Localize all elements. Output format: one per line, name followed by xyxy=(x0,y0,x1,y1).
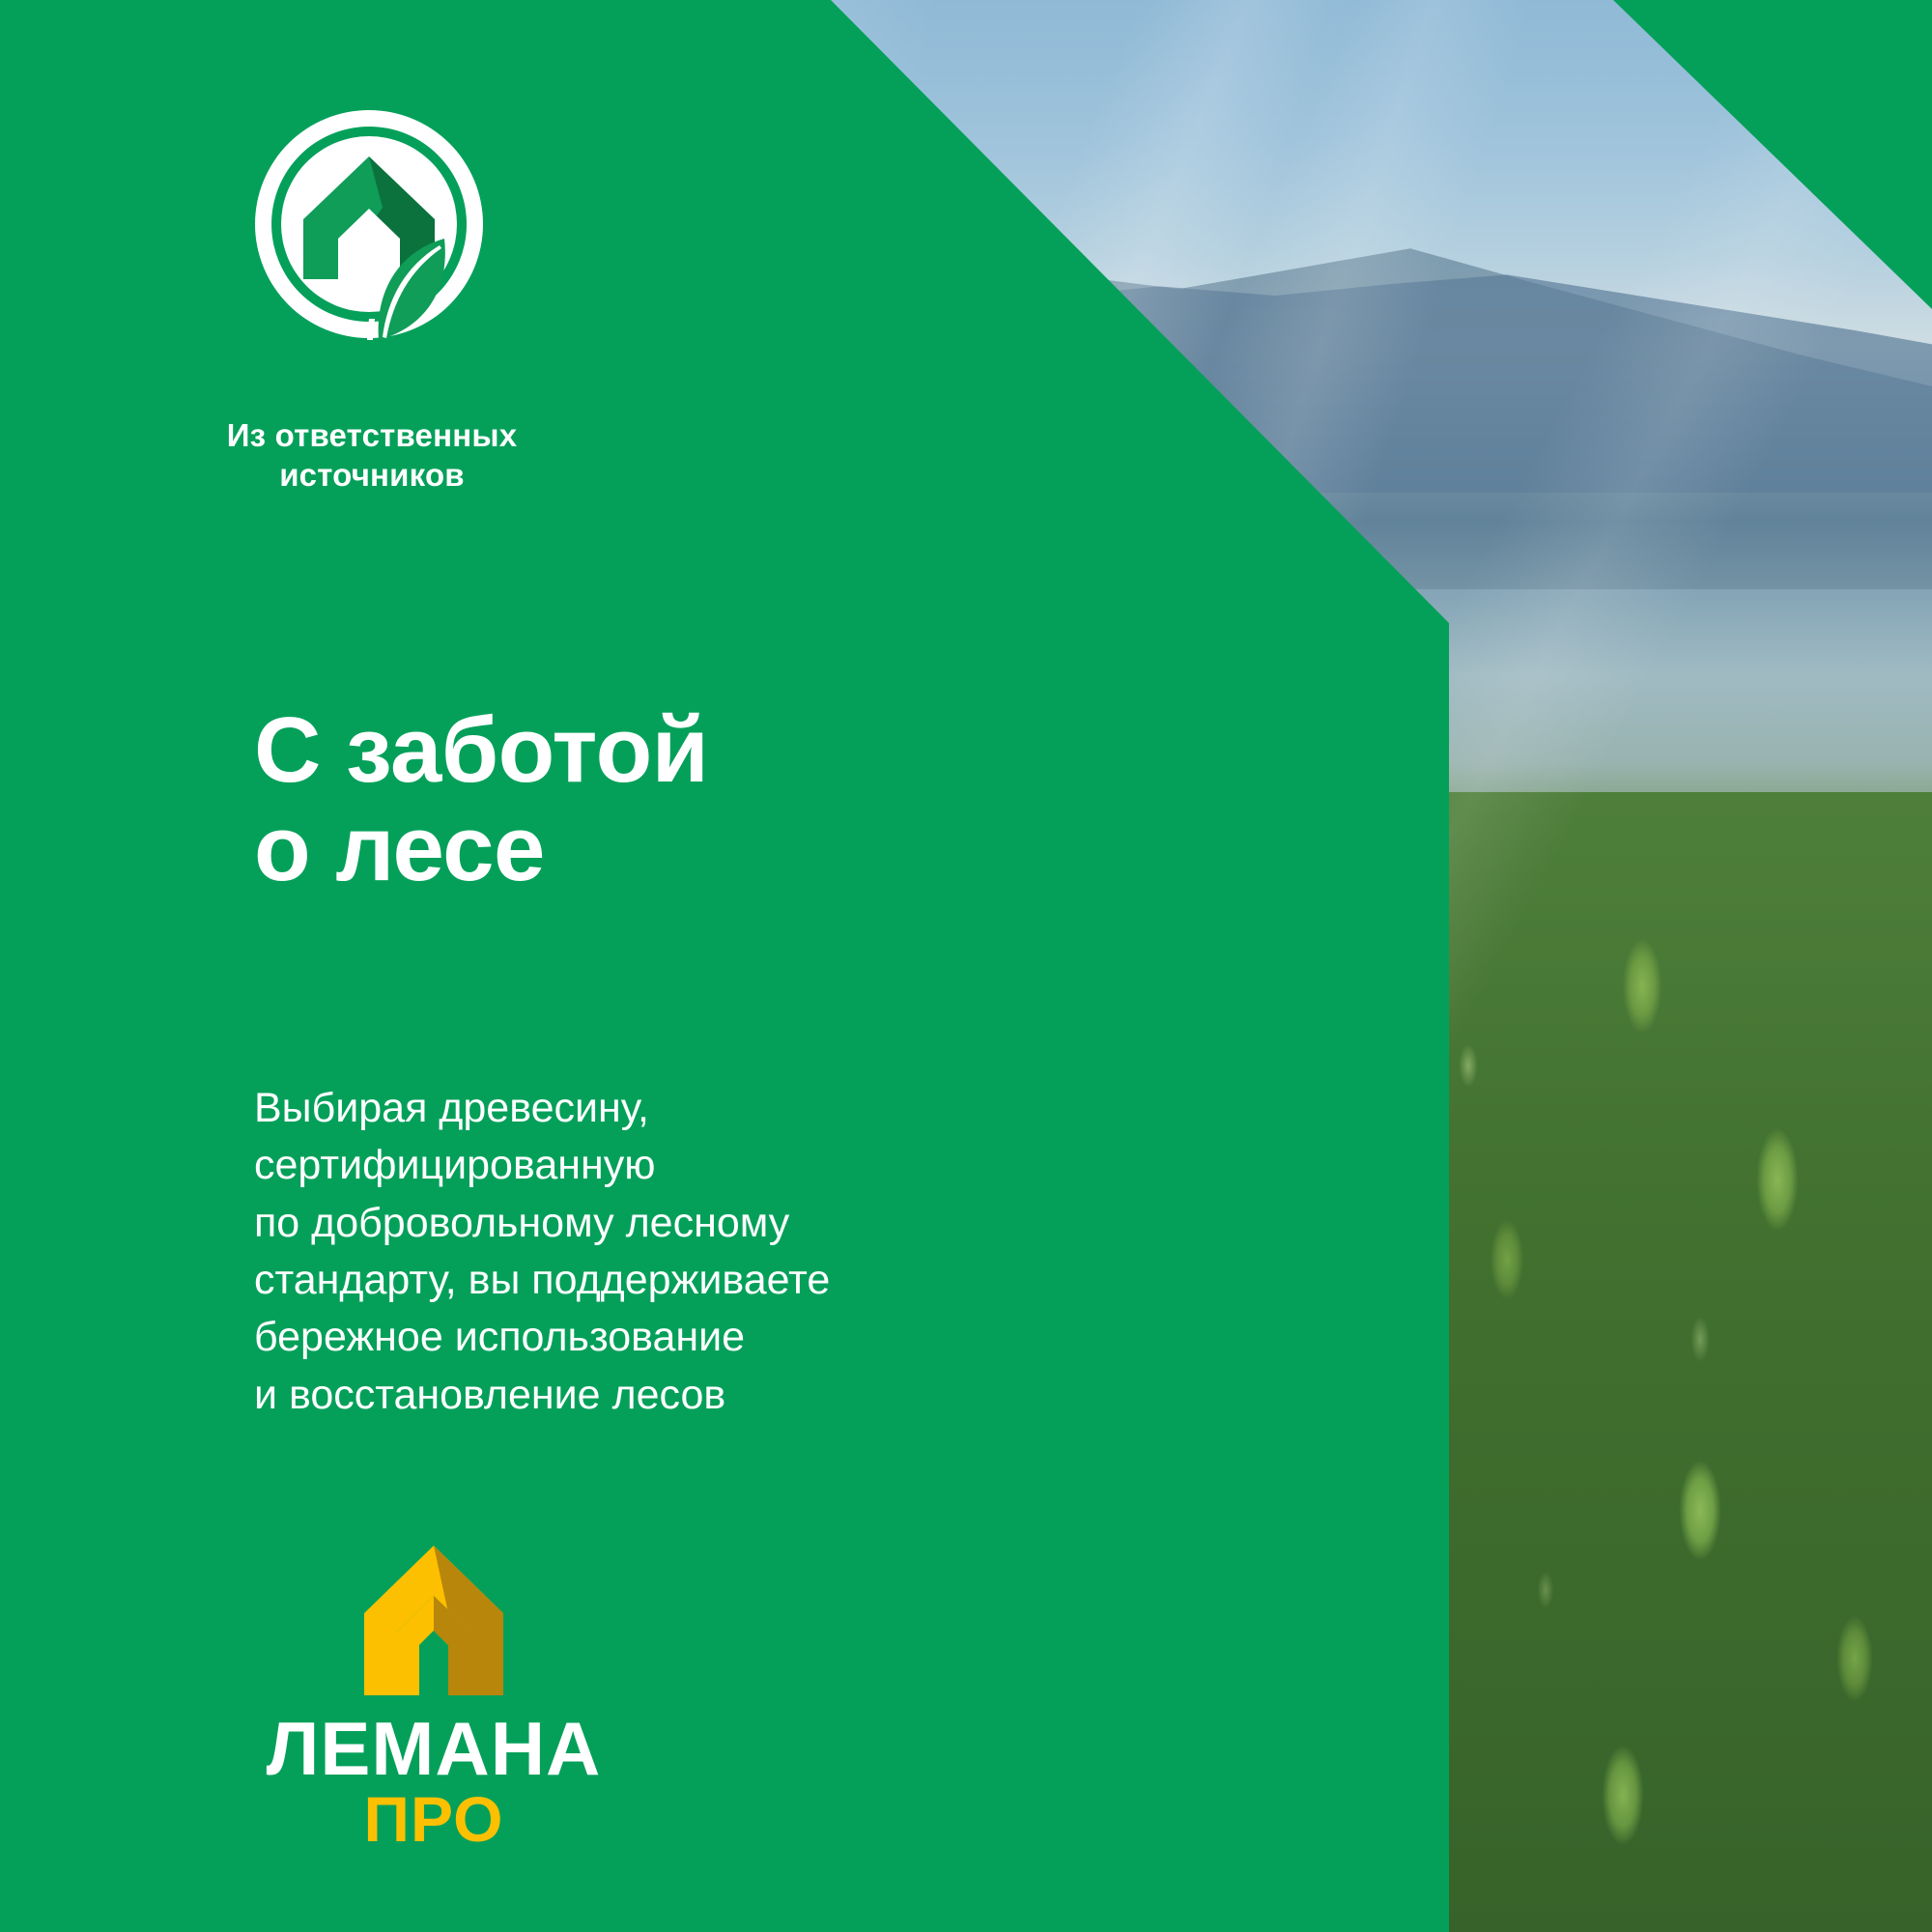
body-paragraph: Выбирая древесину, сертифицированную по … xyxy=(254,1080,1008,1424)
lemana-house-icon xyxy=(356,1542,511,1701)
brand-suffix: ПРО xyxy=(255,1787,612,1852)
poster-canvas: Из ответственных источников С заботой о … xyxy=(0,0,1932,1932)
eco-house-leaf-circle-icon xyxy=(253,108,485,340)
page-title: С заботой о лесе xyxy=(254,701,708,898)
brand-name: ЛЕМАНА xyxy=(255,1713,612,1785)
lemana-pro-logo: ЛЕМАНА ПРО xyxy=(255,1542,612,1852)
eco-badge-caption: Из ответственных источников xyxy=(193,415,551,496)
